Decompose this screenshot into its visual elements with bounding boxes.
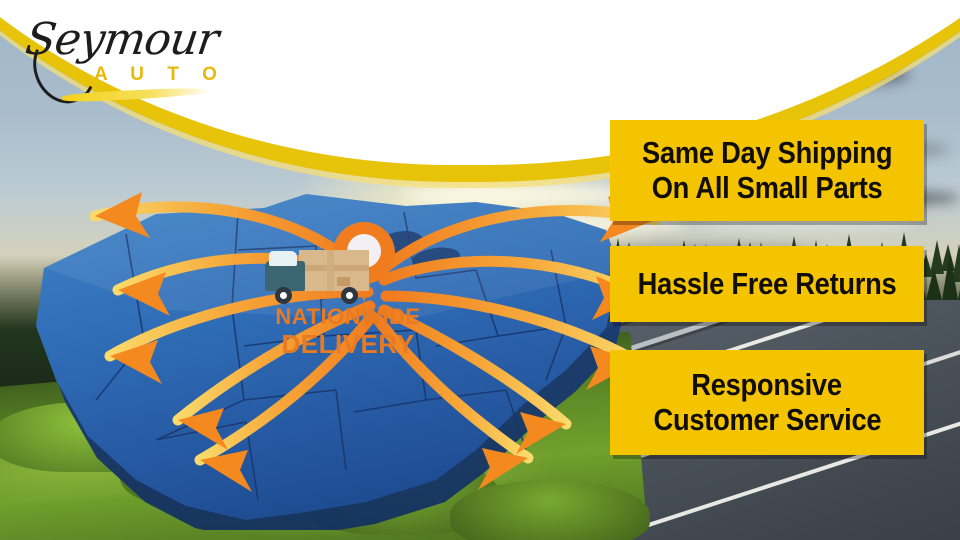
logo-wordmark: Seymour bbox=[22, 14, 221, 65]
delivery-truck-icon bbox=[265, 247, 375, 305]
promotional-banner: Seymour A U T O bbox=[0, 0, 960, 540]
nationwide-delivery-label: NATIONWIDE DELIVERY bbox=[258, 306, 438, 357]
brand-logo[interactable]: Seymour A U T O bbox=[20, 14, 250, 106]
banner-responsive-customer-service[interactable]: Responsive Customer Service bbox=[610, 350, 924, 455]
banner-3-line-1: Responsive bbox=[692, 368, 842, 402]
banner-same-day-shipping[interactable]: Same Day Shipping On All Small Parts bbox=[610, 120, 924, 221]
banner-3-line-2: Customer Service bbox=[653, 403, 881, 437]
delivery-line: DELIVERY bbox=[258, 331, 438, 357]
banner-hassle-free-returns[interactable]: Hassle Free Returns bbox=[610, 246, 924, 322]
banner-2-line-1: Hassle Free Returns bbox=[638, 267, 897, 301]
banner-1-line-2: On All Small Parts bbox=[652, 171, 883, 205]
logo-subtext: A U T O bbox=[94, 64, 226, 86]
nationwide-line: NATIONWIDE bbox=[258, 306, 438, 328]
banner-1-line-1: Same Day Shipping bbox=[642, 136, 892, 170]
